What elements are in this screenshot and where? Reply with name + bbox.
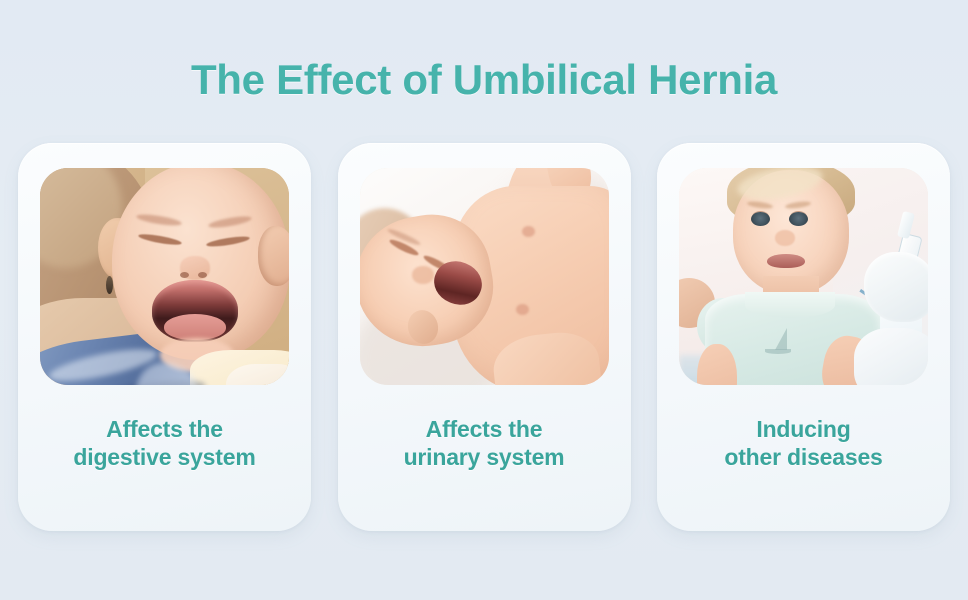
baby-tongue xyxy=(164,314,226,340)
caption-line-1: Affects the xyxy=(106,416,223,442)
dress-collar xyxy=(745,292,835,318)
caption-line-2: urinary system xyxy=(338,443,631,471)
baby-torso-detail-1 xyxy=(522,226,535,237)
caption-line-2: other diseases xyxy=(657,443,950,471)
card-urinary-system[interactable]: Affects the urinary system xyxy=(338,143,631,531)
caption-line-2: digestive system xyxy=(18,443,311,471)
card-row: Affects the digestive system xyxy=(18,143,950,531)
baby-torso-detail-2 xyxy=(516,304,529,315)
gloved-hand-upper xyxy=(864,252,928,322)
crying-baby-lying-on-sheet-photo xyxy=(360,168,609,385)
baby-nostril-right xyxy=(198,272,207,278)
baby-nose xyxy=(412,266,434,284)
caption-line-1: Inducing xyxy=(756,416,850,442)
sailboat-motif-icon xyxy=(763,328,793,356)
card-caption: Inducing other diseases xyxy=(657,415,950,471)
toddler-mouth xyxy=(767,254,805,268)
gloved-hand-lower xyxy=(854,328,928,385)
toddler-nose xyxy=(775,230,795,246)
toddler-eye-right xyxy=(789,212,808,226)
infographic-poster: The Effect of Umbilical Hernia xyxy=(0,0,968,600)
baby-ear xyxy=(258,226,289,286)
toddler-receiving-injection-photo xyxy=(679,168,928,385)
toddler-eye-left xyxy=(751,212,770,226)
card-caption: Affects the urinary system xyxy=(338,415,631,471)
card-other-diseases[interactable]: Inducing other diseases xyxy=(657,143,950,531)
crying-baby-held-by-mother-photo xyxy=(40,168,289,385)
baby-nostril-left xyxy=(180,272,189,278)
page-title: The Effect of Umbilical Hernia xyxy=(0,56,968,104)
card-caption: Affects the digestive system xyxy=(18,415,311,471)
card-digestive-system[interactable]: Affects the digestive system xyxy=(18,143,311,531)
caption-line-1: Affects the xyxy=(426,416,543,442)
